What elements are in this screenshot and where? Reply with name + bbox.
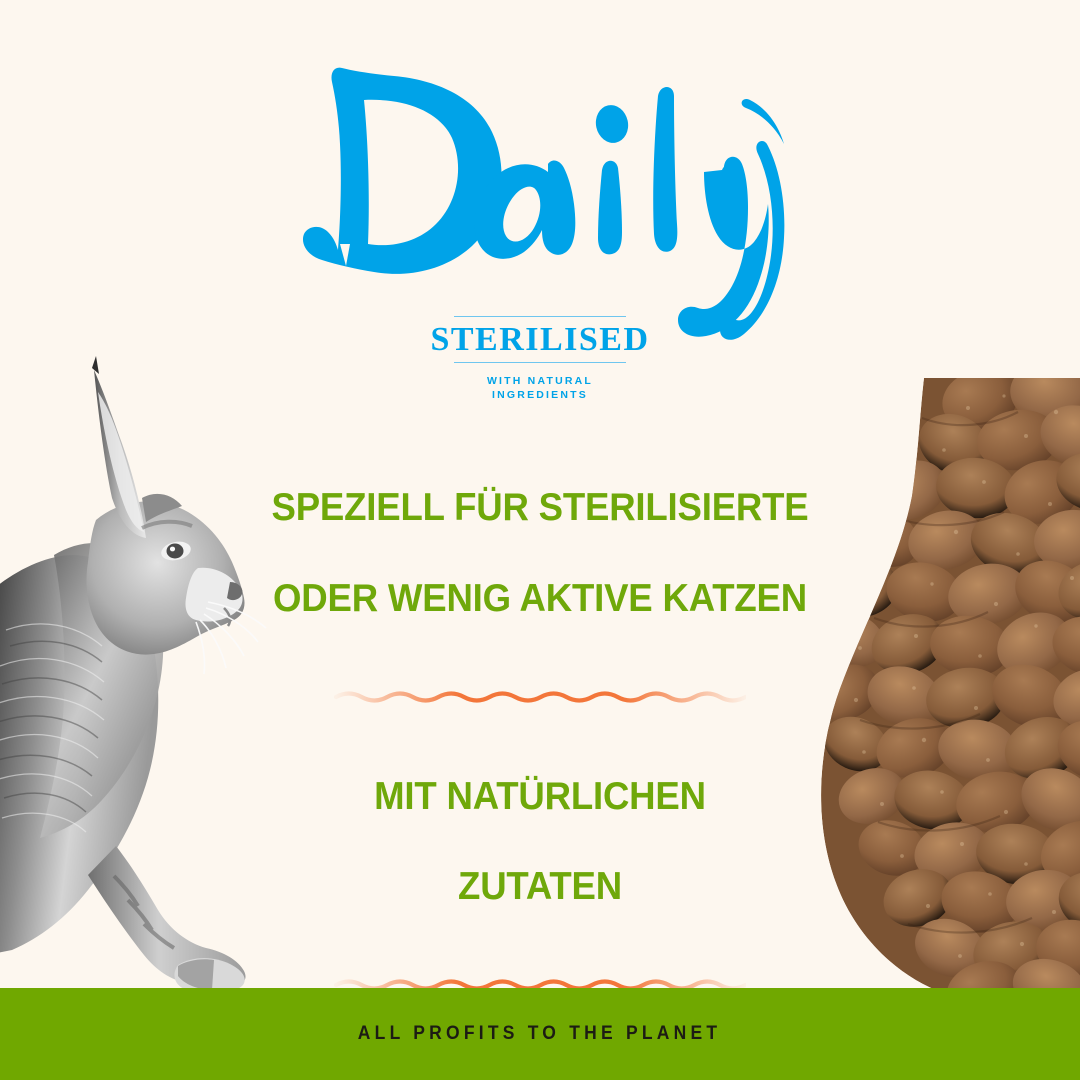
promo-poster: STERILISED WITH NATURAL INGREDIENTS SPEZ… <box>0 0 1080 1080</box>
brand-logo: STERILISED WITH NATURAL INGREDIENTS <box>0 48 1080 358</box>
claim-line: ODER WENIG AKTIVE KATZEN <box>27 576 1053 621</box>
logo-tagline: WITH NATURAL INGREDIENTS <box>0 374 1080 402</box>
spacer <box>0 667 1080 688</box>
claim-sterilised-cats: SPEZIELL FÜR STERILISIERTE ODER WENIG AK… <box>27 440 1053 667</box>
claim-line: SPEZIELL FÜR STERILISIERTE <box>27 485 1053 530</box>
daily-brushscript-wordmark <box>280 48 800 348</box>
claims-list: SPEZIELL FÜR STERILISIERTE ODER WENIG AK… <box>0 440 1080 1080</box>
footer-text: ALL PROFITS TO THE PLANET <box>358 1023 721 1045</box>
claim-natural-ingredients: MIT NATÜRLICHEN ZUTATEN <box>27 728 1053 955</box>
spacer <box>0 706 1080 728</box>
logo-tagline-line1: WITH NATURAL <box>0 374 1080 388</box>
logo-tagline-line2: INGREDIENTS <box>0 388 1080 402</box>
thin-blue-rule-top <box>454 316 626 317</box>
spacer <box>0 955 1080 976</box>
thin-blue-rule-bottom <box>454 362 626 363</box>
orange-wavy-divider <box>334 688 746 706</box>
logo-subtitle-block: STERILISED WITH NATURAL INGREDIENTS <box>0 316 1080 402</box>
logo-subtitle: STERILISED <box>0 317 1080 362</box>
footer-banner: ALL PROFITS TO THE PLANET <box>0 988 1080 1080</box>
claim-line: ZUTATEN <box>27 864 1053 909</box>
claim-line: MIT NATÜRLICHEN <box>27 774 1053 819</box>
